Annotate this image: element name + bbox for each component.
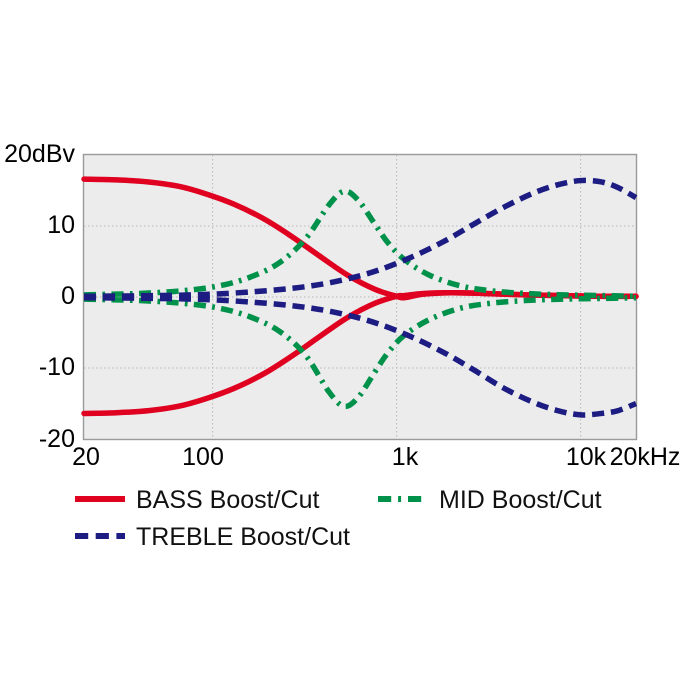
legend-label-mid: MID Boost/Cut xyxy=(439,486,602,514)
x-axis-label-10k: 10k xyxy=(566,443,607,471)
legend-label-bass: BASS Boost/Cut xyxy=(136,486,319,514)
y-axis-label-top: 20dBv xyxy=(4,140,75,168)
legend-item-treble: TREBLE Boost/Cut xyxy=(75,523,350,551)
y-axis-label-10: 10 xyxy=(47,211,75,239)
legend-item-mid: MID Boost/Cut xyxy=(378,486,602,514)
y-axis-label-neg10: -10 xyxy=(39,353,75,381)
y-axis-label-0: 0 xyxy=(61,282,75,310)
x-axis-label-100: 100 xyxy=(182,443,224,471)
legend-item-bass: BASS Boost/Cut xyxy=(75,486,319,514)
legend: BASS Boost/Cut MID Boost/Cut TREBLE Boos… xyxy=(75,486,602,551)
x-axis-label-20: 20 xyxy=(72,443,100,471)
y-axis-label-neg20: -20 xyxy=(39,425,75,453)
chart-canvas: 20dBv 10 0 -10 -20 20 100 1k 10k 20kHz B… xyxy=(0,0,690,690)
legend-label-treble: TREBLE Boost/Cut xyxy=(136,523,350,551)
x-axis-label-1k: 1k xyxy=(392,443,419,471)
eq-response-chart: 20dBv 10 0 -10 -20 20 100 1k 10k 20kHz B… xyxy=(0,0,690,690)
x-axis-label-20k: 20kHz xyxy=(610,443,681,471)
